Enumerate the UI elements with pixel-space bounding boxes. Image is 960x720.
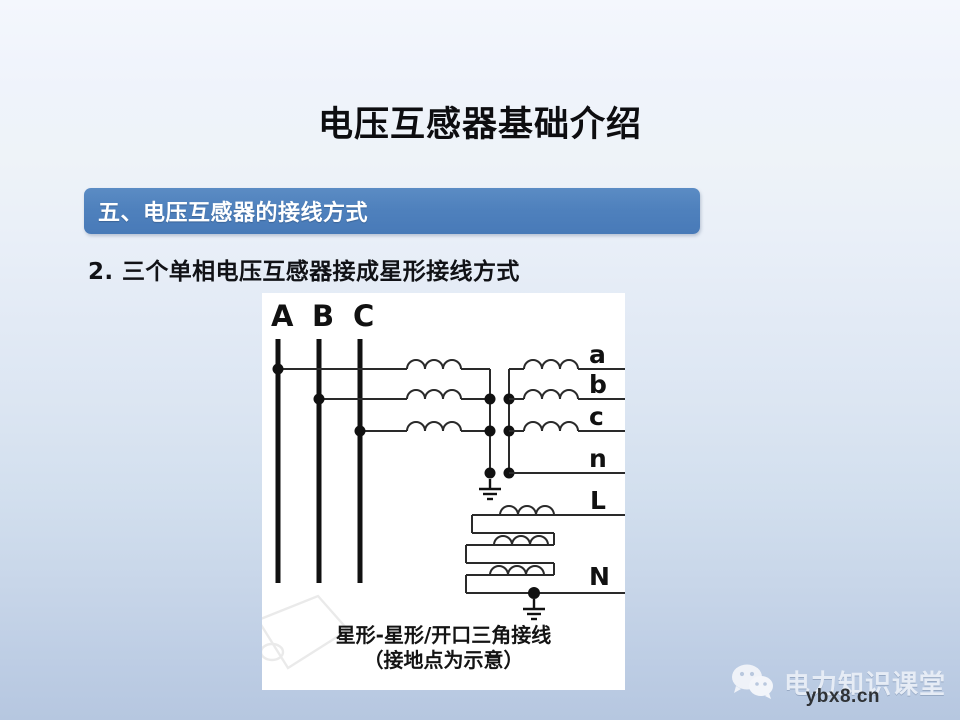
slide-canvas: 电压互感器基础介绍 五、电压互感器的接线方式 2. 三个单相电压互感器接成星形接… [0, 0, 960, 720]
circuit-diagram-panel: A B C [262, 293, 625, 690]
phase-label-a: A [271, 299, 294, 333]
terminal-label-L: L [590, 486, 606, 515]
wechat-logo-icon [730, 662, 776, 702]
page-title: 电压互感器基础介绍 [0, 96, 960, 147]
section-banner: 五、电压互感器的接线方式 [84, 188, 700, 234]
terminal-label-b: b [589, 370, 607, 399]
section-banner-label: 五、电压互感器的接线方式 [84, 195, 368, 227]
figure-caption-line1: 星形-星形/开口三角接线 [262, 623, 625, 647]
phase-label-c: C [353, 299, 374, 333]
phase-label-b: B [312, 299, 334, 333]
junction-dot-icon [355, 426, 366, 437]
junction-dot-icon [485, 468, 496, 479]
terminal-label-N: N [589, 562, 610, 591]
junction-dot-icon [528, 587, 540, 599]
site-url-watermark: ybx8.cn [806, 686, 880, 708]
wiring-schematic: A B C [262, 293, 625, 633]
junction-dot-icon [485, 394, 496, 405]
terminal-label-a: a [589, 340, 606, 369]
earth-ground-icon [523, 599, 545, 619]
junction-dot-icon [485, 426, 496, 437]
terminal-label-c: c [589, 402, 604, 431]
figure-caption: 星形-星形/开口三角接线 （接地点为示意） [262, 623, 625, 672]
junction-dot-icon [314, 394, 325, 405]
terminal-label-n: n [589, 444, 607, 473]
junction-dot-icon [273, 364, 284, 375]
figure-caption-line2: （接地点为示意） [262, 648, 625, 672]
subsection-heading: 2. 三个单相电压互感器接成星形接线方式 [88, 252, 520, 286]
earth-ground-icon [479, 479, 501, 499]
